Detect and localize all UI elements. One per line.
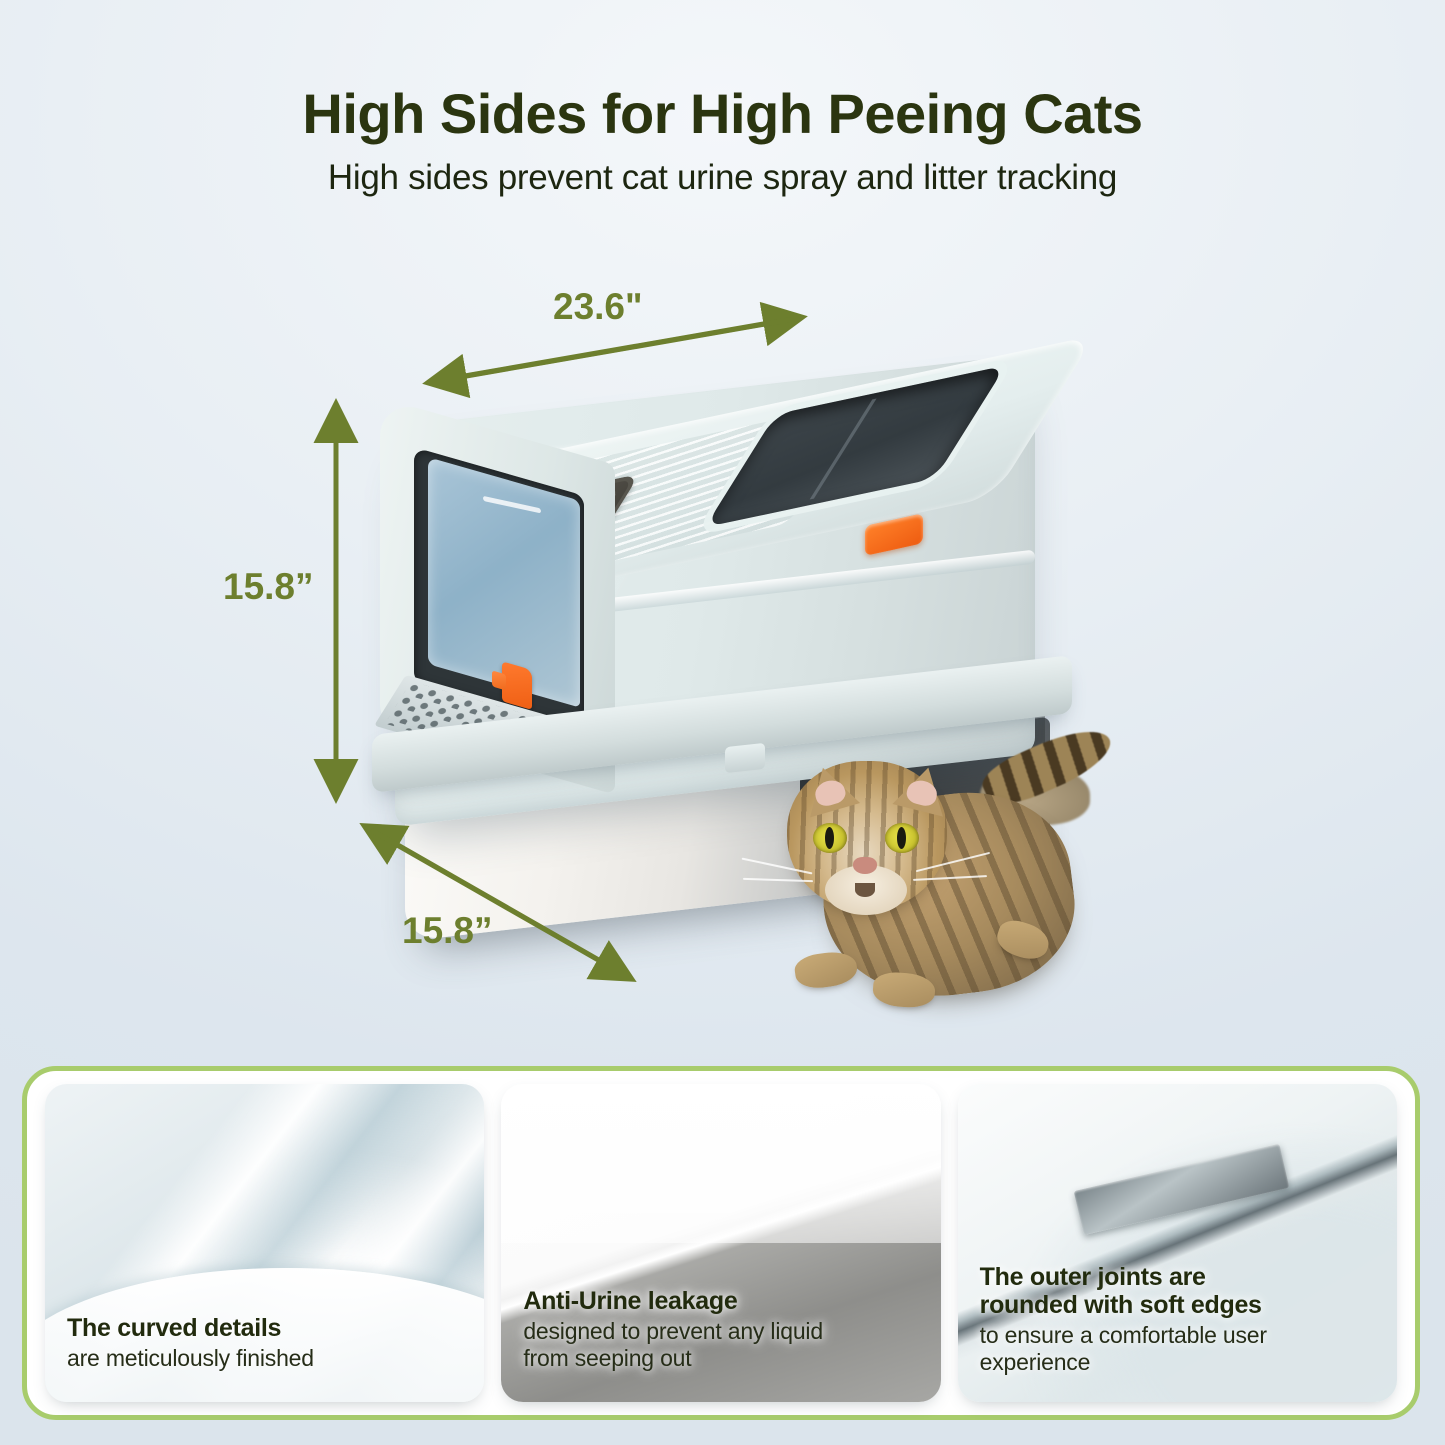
hood-clip-icon	[725, 743, 765, 773]
cat-paw	[793, 949, 859, 991]
height-dimension-label: 15.8”	[223, 566, 314, 608]
feature-card-heading: The outer joints are rounded with soft e…	[980, 1263, 1381, 1319]
cat-eye-right	[885, 823, 919, 853]
hero-product-image	[0, 250, 1445, 1050]
recessed-handle-slot	[1074, 1144, 1289, 1235]
feature-panel: The curved details are meticulously fini…	[22, 1066, 1420, 1420]
feature-card-body: are meticulously finished	[67, 1345, 468, 1372]
depth-dimension-label: 15.8”	[402, 910, 493, 952]
width-dimension-label: 23.6"	[553, 286, 643, 328]
cat-nose	[853, 857, 877, 874]
tabby-cat	[765, 725, 1105, 1095]
page-subtitle: High sides prevent cat urine spray and l…	[0, 158, 1445, 198]
cat-eye-left	[813, 823, 847, 853]
feature-card-body: designed to prevent any liquid from seep…	[523, 1318, 924, 1372]
feature-card-text: The curved details are meticulously fini…	[67, 1314, 468, 1372]
cat-ear-left	[798, 761, 860, 818]
feature-card-body: to ensure a comfortable user experience	[980, 1322, 1381, 1376]
cat-head	[787, 761, 947, 911]
feature-card-outer-joints: The outer joints are rounded with soft e…	[958, 1084, 1397, 1402]
cat-ear-right	[892, 761, 953, 816]
feature-card-text: Anti-Urine leakage designed to prevent a…	[523, 1287, 924, 1372]
feature-card-heading: Anti-Urine leakage	[523, 1287, 924, 1315]
feature-card-heading: The curved details	[67, 1314, 468, 1342]
page-title: High Sides for High Peeing Cats	[0, 84, 1445, 144]
feature-card-curved-details: The curved details are meticulously fini…	[45, 1084, 484, 1402]
cat-mouth	[855, 883, 875, 897]
header: High Sides for High Peeing Cats High sid…	[0, 84, 1445, 198]
feature-card-text: The outer joints are rounded with soft e…	[980, 1263, 1381, 1376]
feature-card-anti-urine-leakage: Anti-Urine leakage designed to prevent a…	[501, 1084, 940, 1402]
